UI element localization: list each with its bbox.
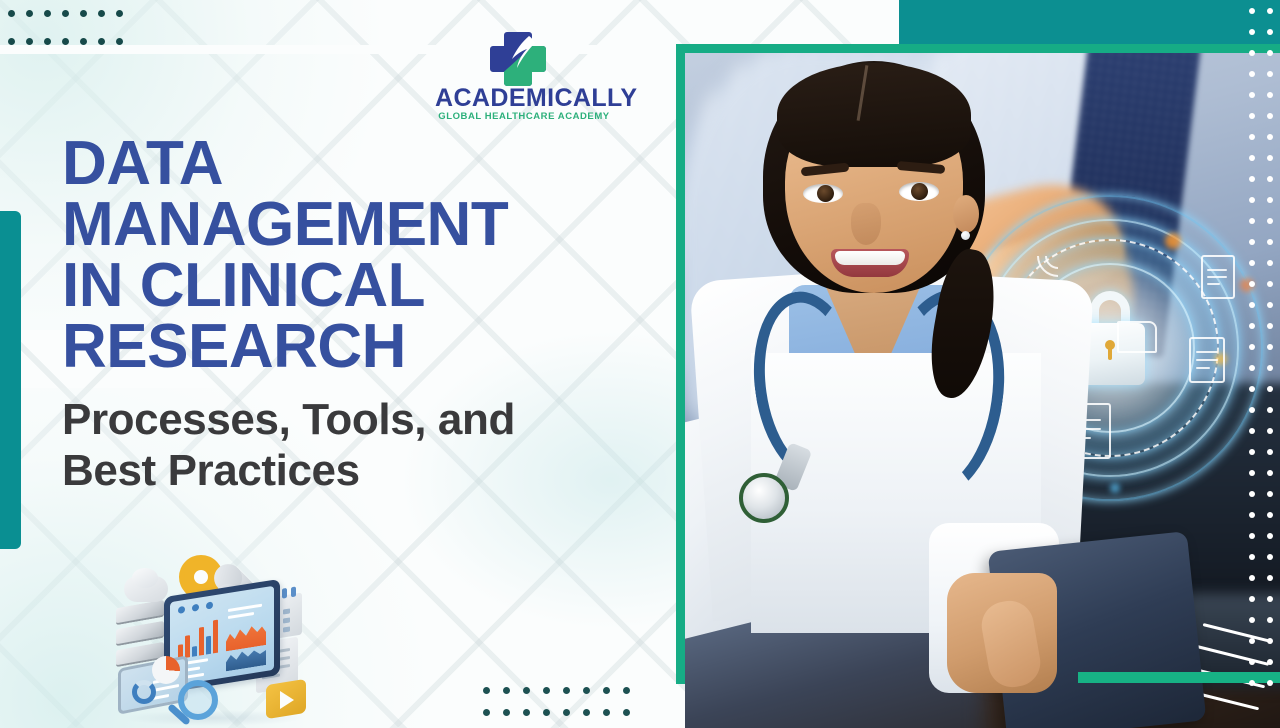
- medical-cross-svg: [486, 30, 550, 88]
- gear-center-hole: [194, 570, 208, 584]
- headline-block: DATA MANAGEMENT IN CLINICAL RESEARCH Pro…: [62, 133, 662, 496]
- left-accent-bar: [0, 211, 21, 549]
- cloud-icon-top: [132, 568, 158, 588]
- donut-chart-icon: [132, 680, 156, 704]
- title-line: DATA: [62, 133, 662, 194]
- page-title: DATA MANAGEMENT IN CLINICAL RESEARCH: [62, 133, 662, 377]
- dot-grid-bottom-center: [483, 687, 643, 728]
- logo-tagline: GLOBAL HEALTHCARE ACADEMY: [435, 112, 613, 122]
- title-line: IN CLINICAL: [62, 255, 662, 316]
- dot-grid-top-left: [8, 10, 134, 66]
- title-line: MANAGEMENT: [62, 194, 662, 255]
- subtitle-line: Best Practices: [62, 446, 662, 497]
- top-right-teal-band: [899, 0, 1280, 45]
- dot-grid-right-edge: [1249, 8, 1280, 701]
- medical-cross-icon: [486, 30, 550, 88]
- page-subtitle: Processes, Tools, and Best Practices: [62, 395, 662, 496]
- data-analytics-illustration: [106, 556, 312, 728]
- play-triangle: [280, 691, 294, 709]
- logo-brand-name: ACADEMICALLY: [435, 86, 613, 111]
- banner-canvas: ACADEMICALLY GLOBAL HEALTHCARE ACADEMY D…: [0, 0, 1280, 728]
- magnifier-icon: [178, 680, 218, 720]
- photo-frame-border: [676, 44, 1280, 684]
- title-line: RESEARCH: [62, 316, 662, 377]
- subtitle-line: Processes, Tools, and: [62, 395, 662, 446]
- brand-logo[interactable]: ACADEMICALLY GLOBAL HEALTHCARE ACADEMY: [435, 30, 613, 114]
- pie-chart-icon: [152, 656, 180, 684]
